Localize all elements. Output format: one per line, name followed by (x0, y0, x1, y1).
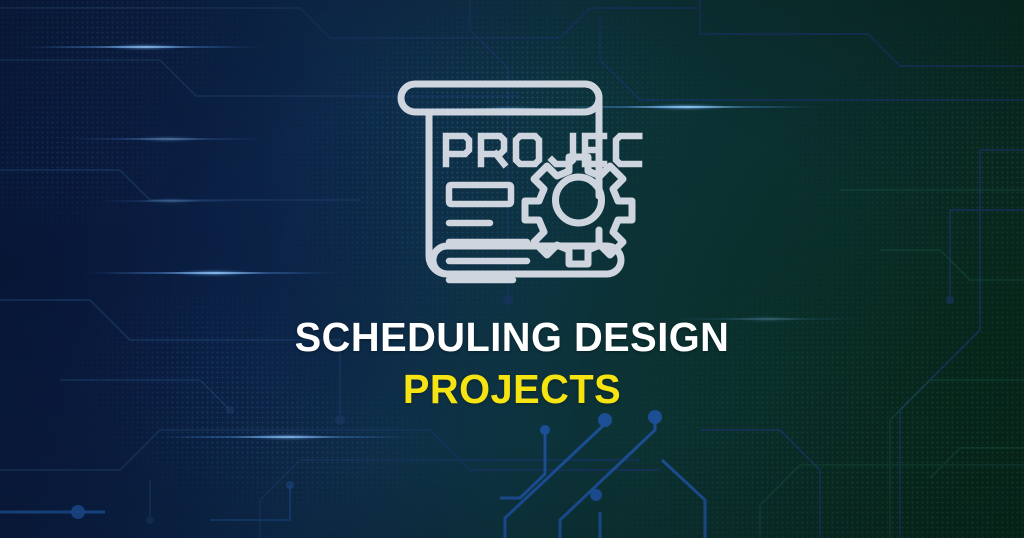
glow-streak (94, 200, 244, 202)
glow-streak (58, 138, 272, 140)
icon-document-lines (449, 185, 527, 280)
icon-project-label (446, 136, 643, 164)
glow-streak (80, 272, 342, 274)
banner-root: SCHEDULING DESIGN PROJECTS (0, 0, 1024, 538)
project-scroll-gear-icon (393, 60, 643, 310)
headline-primary: SCHEDULING DESIGN (15, 316, 1008, 359)
glow-streak (18, 46, 266, 48)
glow-streak (150, 436, 418, 438)
headline-block: SCHEDULING DESIGN PROJECTS (0, 316, 1024, 411)
headline-accent: PROJECTS (15, 368, 1008, 411)
